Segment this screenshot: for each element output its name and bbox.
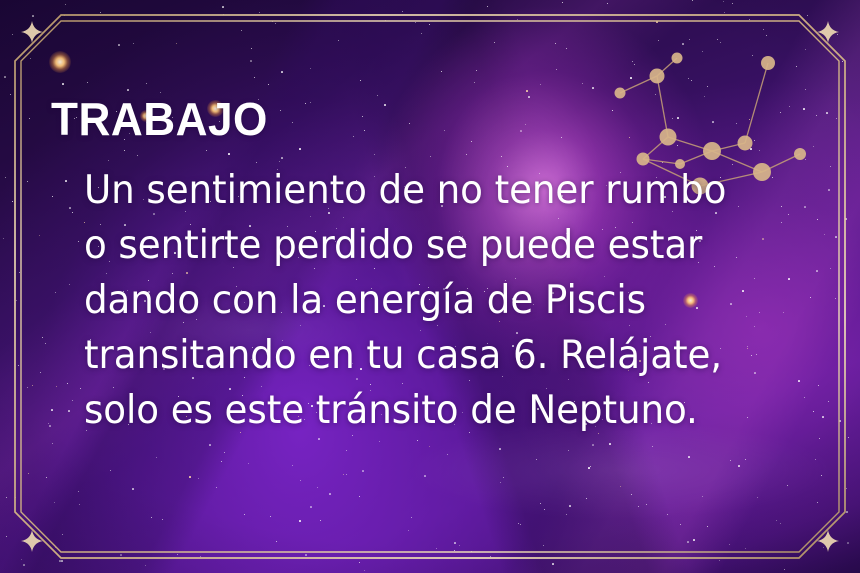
horoscope-card: TRABAJO Un sentimiento de no tener rumbo… [0,0,860,573]
horoscope-body: Un sentimiento de no tener rumbo o senti… [84,163,753,438]
text-content: TRABAJO Un sentimiento de no tener rumbo… [0,0,860,573]
page-title: TRABAJO [51,96,268,142]
